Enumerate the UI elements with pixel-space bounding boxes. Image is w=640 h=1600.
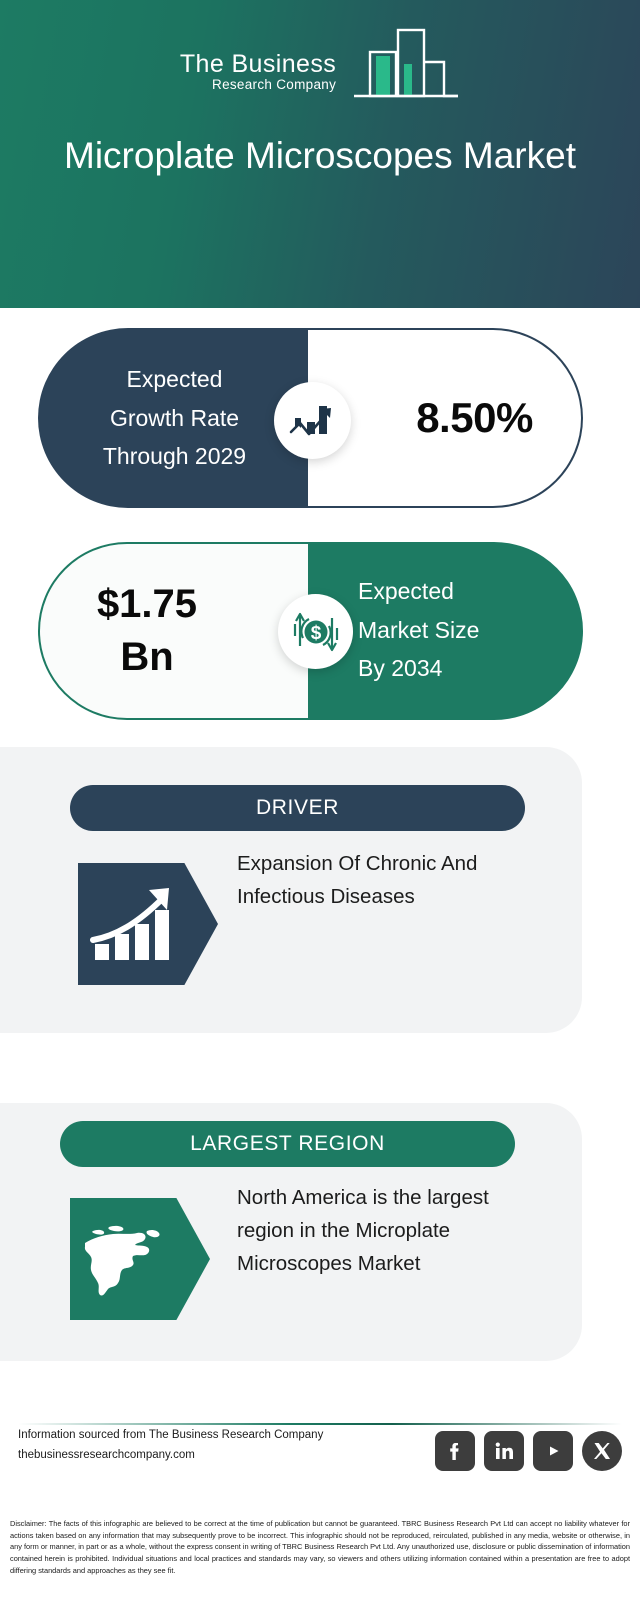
footer-source-line-2[interactable]: thebusinessresearchcompany.com (18, 1446, 418, 1466)
footer-source: Information sourced from The Business Re… (18, 1426, 418, 1466)
region-text: North America is the largest region in t… (237, 1181, 537, 1281)
logo-text: The Business Research Company (180, 51, 336, 98)
market-size-label-line-1: Expected (358, 572, 558, 611)
market-size-label-line-3: By 2034 (358, 649, 558, 688)
expected-growth-rate-card: Expected Growth Rate Through 2029 8.50% (38, 328, 583, 508)
growth-label-line-1: Expected (62, 360, 287, 399)
header-banner: The Business Research Company Microplate… (0, 0, 640, 308)
x-twitter-icon[interactable] (582, 1431, 622, 1471)
growth-chart-icon (274, 382, 351, 459)
social-links (435, 1431, 622, 1471)
market-size-value-line-2: Bn (120, 631, 173, 684)
growth-label-line-3: Through 2029 (62, 437, 287, 476)
dollar-cycle-icon: $ (278, 594, 353, 669)
market-size-label-line-2: Market Size (358, 611, 558, 650)
page-title: Microplate Microscopes Market (40, 134, 600, 178)
driver-text: Expansion Of Chronic And Infectious Dise… (237, 847, 532, 913)
largest-region-panel: LARGEST REGION North America is the larg… (0, 1103, 582, 1361)
driver-panel: DRIVER Expansion Of Chronic And Infectio… (0, 747, 582, 1033)
region-heading: LARGEST REGION (60, 1121, 515, 1167)
youtube-icon[interactable] (533, 1431, 573, 1471)
company-logo: The Business Research Company (0, 28, 640, 98)
logo-line-1: The Business (180, 51, 336, 77)
svg-text:$: $ (310, 623, 321, 644)
bar-chart-logo-icon (340, 28, 460, 98)
market-size-value-line-1: $1.75 (97, 578, 197, 631)
expected-market-size-card: $1.75 Bn Expected Market Size By 2034 $ (38, 542, 583, 720)
market-size-value: $1.75 Bn (38, 542, 308, 720)
driver-heading: DRIVER (70, 785, 525, 831)
linkedin-icon[interactable] (484, 1431, 524, 1471)
growth-label: Expected Growth Rate Through 2029 (62, 360, 287, 476)
north-america-map-icon (70, 1198, 210, 1320)
footer-source-line-1: Information sourced from The Business Re… (18, 1426, 418, 1446)
growth-label-line-2: Growth Rate (62, 399, 287, 438)
logo-line-2: Research Company (180, 77, 336, 94)
ascending-bar-arrow-icon (78, 863, 218, 985)
facebook-icon[interactable] (435, 1431, 475, 1471)
footer-divider (18, 1423, 622, 1425)
disclaimer-text: Disclaimer: The facts of this infographi… (10, 1518, 630, 1576)
